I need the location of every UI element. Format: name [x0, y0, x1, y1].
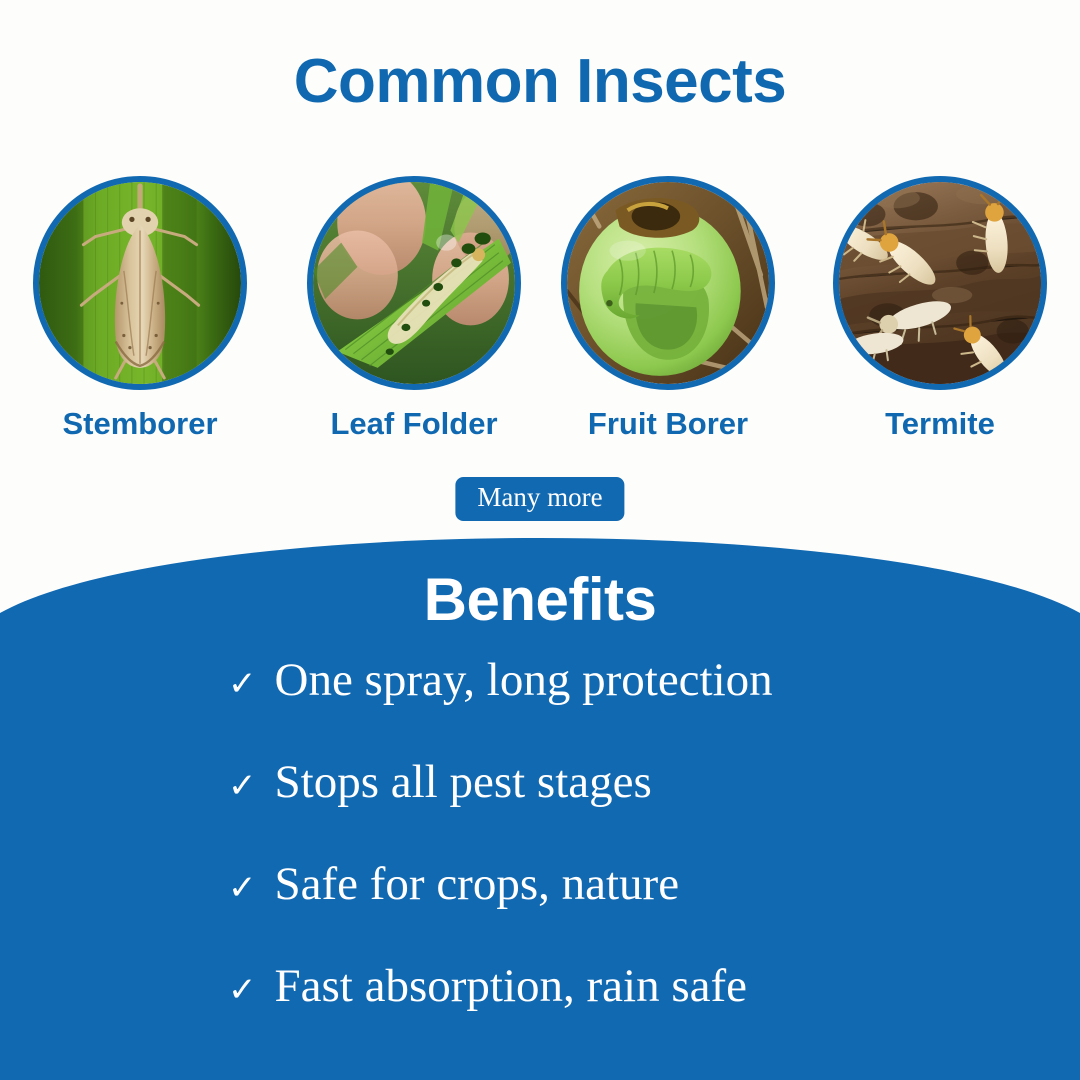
fruit-borer-photo: [567, 182, 769, 384]
stemborer-photo-ring: [33, 176, 247, 390]
stemborer-photo: [39, 182, 241, 384]
insect-label-leaf-folder: Leaf Folder: [300, 406, 528, 442]
insect-card-row: Stemborer: [0, 176, 1080, 466]
termite-photo: [839, 182, 1041, 384]
check-icon: ✓: [228, 973, 257, 1007]
check-icon: ✓: [228, 667, 257, 701]
insect-card-leaf-folder[interactable]: Leaf Folder: [300, 176, 528, 442]
many-more-badge[interactable]: Many more: [455, 477, 624, 521]
benefit-item: ✓ Fast absorption, rain safe: [0, 961, 1080, 1063]
leaf-folder-photo: [313, 182, 515, 384]
page-title: Common Insects: [0, 48, 1080, 116]
check-icon: ✓: [228, 871, 257, 905]
termite-photo-ring: [833, 176, 1047, 390]
insect-label-stemborer: Stemborer: [26, 406, 254, 442]
benefits-title: Benefits: [0, 567, 1080, 633]
benefits-list: ✓ One spray, long protection ✓ Stops all…: [0, 655, 1080, 1063]
insect-card-termite[interactable]: Termite: [826, 176, 1054, 442]
insect-card-fruit-borer[interactable]: Fruit Borer: [554, 176, 782, 442]
benefit-item: ✓ Stops all pest stages: [0, 757, 1080, 859]
fruit-borer-photo-ring: [561, 176, 775, 390]
benefit-text: Safe for crops, nature: [275, 859, 680, 911]
benefit-item: ✓ Safe for crops, nature: [0, 859, 1080, 961]
insect-label-fruit-borer: Fruit Borer: [554, 406, 782, 442]
benefit-text: Fast absorption, rain safe: [275, 961, 748, 1013]
insect-label-termite: Termite: [826, 406, 1054, 442]
benefits-section: Benefits ✓ One spray, long protection ✓ …: [0, 535, 1080, 1080]
check-icon: ✓: [228, 769, 257, 803]
insect-card-stemborer[interactable]: Stemborer: [26, 176, 254, 442]
benefit-text: One spray, long protection: [275, 655, 773, 707]
common-insects-section: Common Insects: [0, 0, 1080, 620]
benefit-item: ✓ One spray, long protection: [0, 655, 1080, 757]
insect-benefits-infographic: Common Insects: [0, 0, 1080, 1080]
leaf-folder-photo-ring: [307, 176, 521, 390]
benefit-text: Stops all pest stages: [275, 757, 652, 809]
